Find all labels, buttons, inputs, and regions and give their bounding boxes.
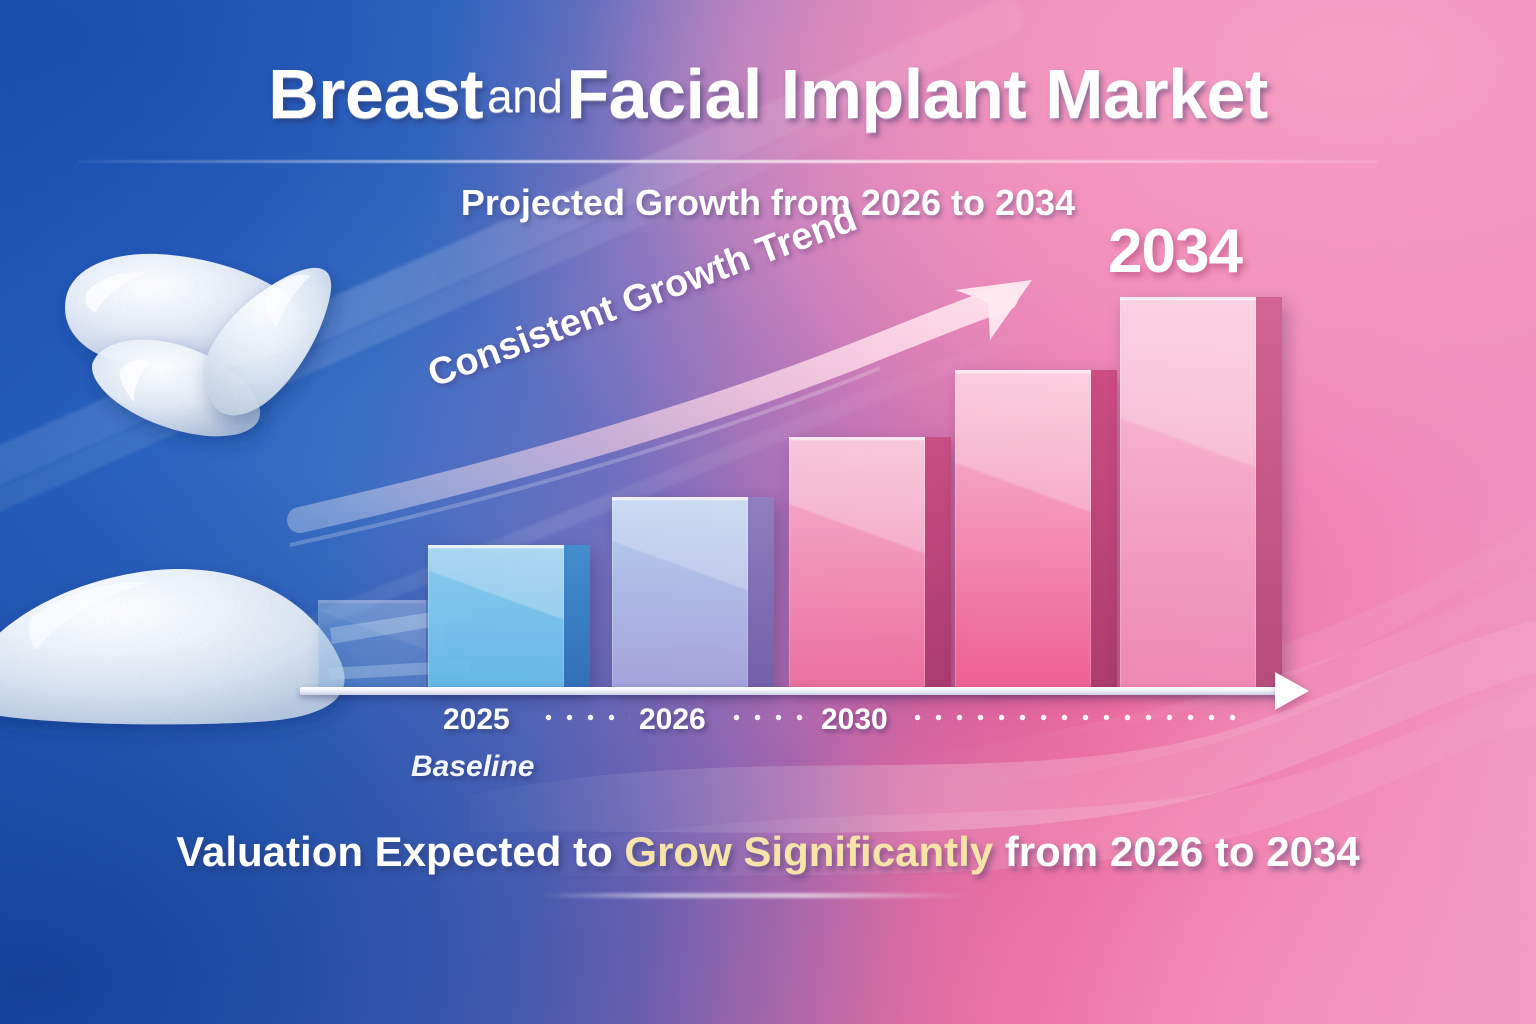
footer-year-end: 2034 — [1266, 828, 1359, 875]
bar-mid-front-face — [955, 370, 1091, 690]
bar-2025-front-face — [428, 545, 564, 690]
bar-2030-side-face — [925, 437, 951, 690]
footer-part2: from — [1005, 828, 1098, 875]
bar-mid — [955, 370, 1091, 690]
footer-caption: Valuation Expected to Grow Significantly… — [0, 828, 1536, 876]
footer-year-start: 2026 — [1110, 828, 1203, 875]
bar-2034-side-face — [1256, 297, 1282, 690]
tick-connector-3 — [907, 714, 1247, 721]
footer-part1: Valuation Expected to — [176, 828, 612, 875]
tick-label-2025: 2025 — [443, 703, 510, 737]
tick-label-2026: 2026 — [639, 703, 706, 737]
timeline-axis — [300, 687, 1280, 695]
tick-connector-1 — [538, 714, 630, 721]
footer-underline — [540, 893, 970, 898]
bar-2025-baseline-faded — [318, 600, 426, 690]
footer-connector: to — [1215, 828, 1255, 875]
bar-2030-front-face — [789, 437, 925, 690]
bar-2034-front-face — [1120, 297, 1256, 690]
bar-2026 — [612, 497, 748, 690]
bar-2025 — [428, 545, 564, 690]
bar-2026-side-face — [748, 497, 774, 690]
tick-label-2030: 2030 — [821, 703, 888, 737]
bar-2025-baseline-faded-front-face — [318, 600, 426, 690]
bar-2030 — [789, 437, 925, 690]
axis-arrow-icon — [1275, 672, 1309, 710]
footer-highlight: Grow Significantly — [624, 828, 993, 875]
bar-2034 — [1120, 297, 1256, 690]
bar-mid-side-face — [1091, 370, 1117, 690]
tick-sublabel-baseline: Baseline — [411, 750, 534, 784]
bar-2025-side-face — [564, 545, 590, 690]
infographic-canvas: BreastandFacial Implant Market Projected… — [0, 0, 1536, 1024]
tick-connector-2 — [726, 714, 814, 721]
bar-2026-front-face — [612, 497, 748, 690]
trend-label: Consistent Growth Trend — [422, 197, 862, 396]
